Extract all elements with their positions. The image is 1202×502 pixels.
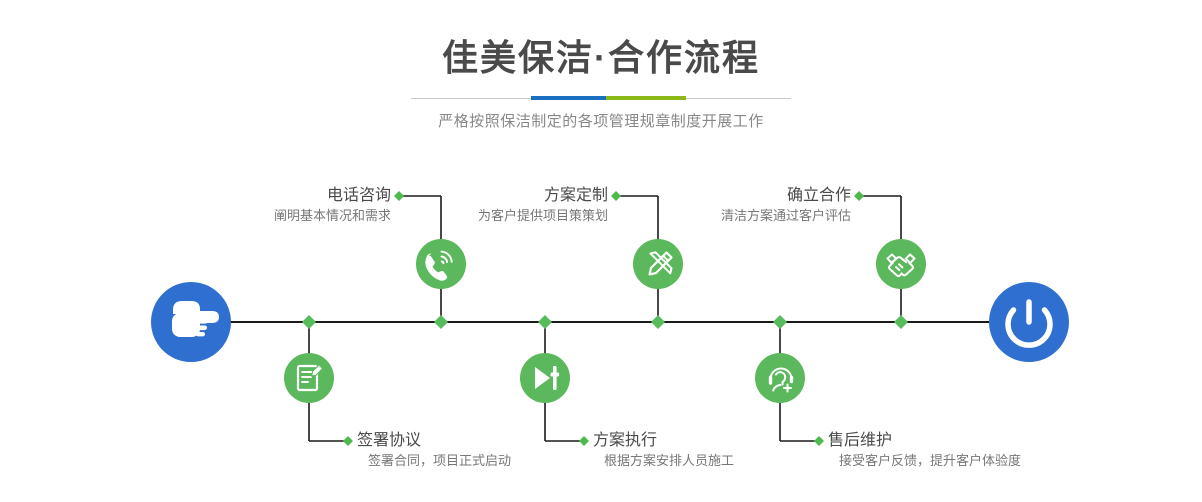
timeline-diagram: 电话咨询 阐明基本情况和需求 方案定制 为客户提供项目策策划 确立合作 清洁方案… bbox=[0, 0, 1202, 502]
start-node bbox=[151, 282, 231, 362]
step-label-6: 售后维护 接受客户反馈，提升客户体验度 bbox=[828, 431, 1021, 471]
label-marker-step-3 bbox=[611, 191, 621, 201]
end-node bbox=[989, 282, 1069, 362]
step-label-6-desc: 接受客户反馈，提升客户体验度 bbox=[839, 451, 1021, 471]
step-label-2: 签署协议 签署合同，项目正式启动 bbox=[357, 431, 511, 471]
label-marker-step-1 bbox=[394, 191, 404, 201]
step-label-3-desc: 为客户提供项目策策划 bbox=[478, 206, 608, 226]
step-label-4: 方案执行 根据方案安排人员施工 bbox=[593, 431, 734, 471]
step-icon-headset-support bbox=[755, 353, 805, 403]
step-label-3-title: 方案定制 bbox=[478, 186, 608, 206]
label-marker-step-4 bbox=[579, 436, 589, 446]
step-icon-phone-call bbox=[416, 239, 466, 289]
label-marker-step-2 bbox=[343, 436, 353, 446]
step-5-icon-circle bbox=[876, 239, 926, 289]
step-2-icon-circle bbox=[284, 353, 334, 403]
label-marker-step-6 bbox=[814, 436, 824, 446]
step-3-icon-circle bbox=[633, 239, 683, 289]
axis-node-step-4 bbox=[538, 315, 552, 329]
axis-node-step-2 bbox=[302, 315, 316, 329]
step-icon-pencil-design bbox=[633, 239, 683, 289]
step-label-5-title: 确立合作 bbox=[721, 186, 851, 206]
step-label-3: 方案定制 为客户提供项目策策划 bbox=[478, 186, 608, 226]
step-1-icon-circle bbox=[416, 239, 466, 289]
step-label-2-title: 签署协议 bbox=[357, 431, 511, 451]
step-label-4-title: 方案执行 bbox=[593, 431, 734, 451]
step-label-4-desc: 根据方案安排人员施工 bbox=[604, 451, 734, 471]
label-marker-step-5 bbox=[854, 191, 864, 201]
step-6-icon-circle bbox=[755, 353, 805, 403]
step-icon-document-sign bbox=[284, 353, 334, 403]
step-icon-play-execute bbox=[520, 353, 570, 403]
step-label-1-title: 电话咨询 bbox=[274, 186, 391, 206]
step-icon-handshake bbox=[876, 239, 926, 289]
axis-node-step-5 bbox=[894, 315, 908, 329]
process-flow-infographic: 佳美保洁·合作流程 严格按照保洁制定的各项管理规章制度开展工作 bbox=[0, 0, 1202, 502]
step-label-5-desc: 清洁方案通过客户评估 bbox=[721, 206, 851, 226]
axis-node-step-3 bbox=[651, 315, 665, 329]
step-label-1-desc: 阐明基本情况和需求 bbox=[274, 206, 391, 226]
axis-node-step-6 bbox=[773, 315, 787, 329]
step-label-1: 电话咨询 阐明基本情况和需求 bbox=[274, 186, 391, 226]
axis-node-step-1 bbox=[434, 315, 448, 329]
step-label-2-desc: 签署合同，项目正式启动 bbox=[368, 451, 511, 471]
step-label-6-title: 售后维护 bbox=[828, 431, 1021, 451]
step-label-5: 确立合作 清洁方案通过客户评估 bbox=[721, 186, 851, 226]
